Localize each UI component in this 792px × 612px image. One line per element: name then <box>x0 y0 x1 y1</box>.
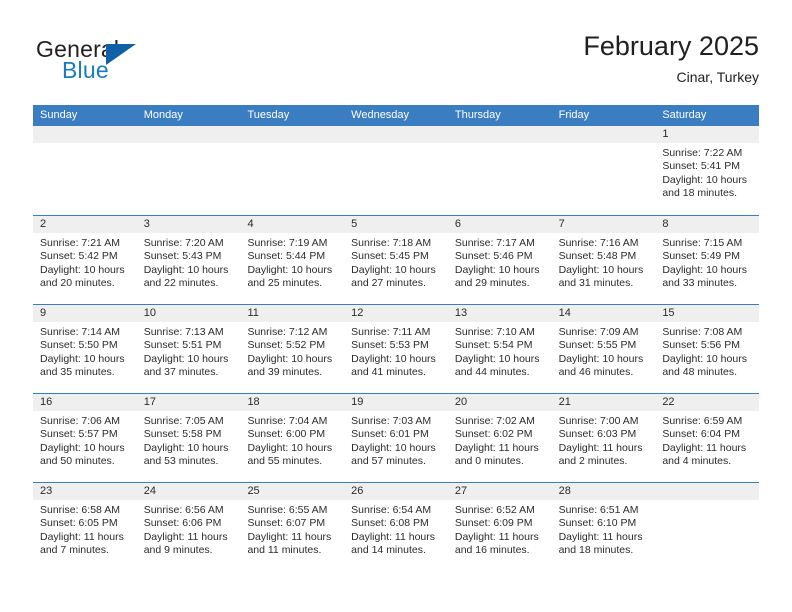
calendar-day-cell[interactable]: 7Sunrise: 7:16 AMSunset: 5:48 PMDaylight… <box>552 216 656 304</box>
day-details: Sunrise: 7:00 AMSunset: 6:03 PMDaylight:… <box>552 411 656 469</box>
day-number: 14 <box>552 305 656 322</box>
daylight-text-line1: Daylight: 10 hours <box>247 353 338 366</box>
calendar-day-cell[interactable]: 19Sunrise: 7:03 AMSunset: 6:01 PMDayligh… <box>344 394 448 482</box>
sunset-text: Sunset: 6:08 PM <box>351 517 442 530</box>
daylight-text-line2: and 20 minutes. <box>40 277 131 290</box>
day-details: Sunrise: 6:51 AMSunset: 6:10 PMDaylight:… <box>552 500 656 558</box>
day-details: Sunrise: 7:18 AMSunset: 5:45 PMDaylight:… <box>344 233 448 291</box>
daylight-text-line2: and 39 minutes. <box>247 366 338 379</box>
sunrise-text: Sunrise: 7:04 AM <box>247 415 338 428</box>
day-details: Sunrise: 7:11 AMSunset: 5:53 PMDaylight:… <box>344 322 448 380</box>
sunrise-text: Sunrise: 7:22 AM <box>662 147 753 160</box>
calendar-day-cell[interactable]: 10Sunrise: 7:13 AMSunset: 5:51 PMDayligh… <box>137 305 241 393</box>
calendar-week-row: 23Sunrise: 6:58 AMSunset: 6:05 PMDayligh… <box>33 482 759 571</box>
sunrise-text: Sunrise: 6:51 AM <box>559 504 650 517</box>
sunrise-text: Sunrise: 7:08 AM <box>662 326 753 339</box>
sunset-text: Sunset: 6:03 PM <box>559 428 650 441</box>
daylight-text-line2: and 33 minutes. <box>662 277 753 290</box>
day-number: 18 <box>240 394 344 411</box>
calendar-day-cell[interactable]: 14Sunrise: 7:09 AMSunset: 5:55 PMDayligh… <box>552 305 656 393</box>
calendar-day-cell[interactable]: 28Sunrise: 6:51 AMSunset: 6:10 PMDayligh… <box>552 483 656 571</box>
calendar-week-row: 1Sunrise: 7:22 AMSunset: 5:41 PMDaylight… <box>33 126 759 215</box>
sunrise-text: Sunrise: 6:58 AM <box>40 504 131 517</box>
daylight-text-line2: and 29 minutes. <box>455 277 546 290</box>
day-number: 6 <box>448 216 552 233</box>
calendar-day-cell-empty <box>655 483 759 571</box>
calendar-day-cell[interactable]: 23Sunrise: 6:58 AMSunset: 6:05 PMDayligh… <box>33 483 137 571</box>
calendar-day-cell[interactable]: 24Sunrise: 6:56 AMSunset: 6:06 PMDayligh… <box>137 483 241 571</box>
day-number: 23 <box>33 483 137 500</box>
sunset-text: Sunset: 5:52 PM <box>247 339 338 352</box>
daylight-text-line1: Daylight: 10 hours <box>455 264 546 277</box>
sunrise-text: Sunrise: 6:56 AM <box>144 504 235 517</box>
daylight-text-line1: Daylight: 11 hours <box>662 442 753 455</box>
sunset-text: Sunset: 5:42 PM <box>40 250 131 263</box>
daylight-text-line2: and 9 minutes. <box>144 544 235 557</box>
calendar-day-cell[interactable]: 15Sunrise: 7:08 AMSunset: 5:56 PMDayligh… <box>655 305 759 393</box>
sunrise-text: Sunrise: 7:17 AM <box>455 237 546 250</box>
daylight-text-line2: and 50 minutes. <box>40 455 131 468</box>
daylight-text-line2: and 18 minutes. <box>559 544 650 557</box>
sunrise-text: Sunrise: 7:19 AM <box>247 237 338 250</box>
day-number <box>33 126 137 143</box>
day-number: 28 <box>552 483 656 500</box>
daylight-text-line1: Daylight: 10 hours <box>40 353 131 366</box>
day-details: Sunrise: 7:15 AMSunset: 5:49 PMDaylight:… <box>655 233 759 291</box>
day-details: Sunrise: 7:19 AMSunset: 5:44 PMDaylight:… <box>240 233 344 291</box>
sunset-text: Sunset: 6:02 PM <box>455 428 546 441</box>
calendar-day-cell[interactable]: 1Sunrise: 7:22 AMSunset: 5:41 PMDaylight… <box>655 126 759 215</box>
sunset-text: Sunset: 5:49 PM <box>662 250 753 263</box>
daylight-text-line2: and 46 minutes. <box>559 366 650 379</box>
daylight-text-line1: Daylight: 10 hours <box>144 442 235 455</box>
day-details: Sunrise: 7:08 AMSunset: 5:56 PMDaylight:… <box>655 322 759 380</box>
sunset-text: Sunset: 5:44 PM <box>247 250 338 263</box>
calendar-day-cell[interactable]: 2Sunrise: 7:21 AMSunset: 5:42 PMDaylight… <box>33 216 137 304</box>
day-number: 13 <box>448 305 552 322</box>
day-number <box>655 483 759 500</box>
day-details: Sunrise: 7:21 AMSunset: 5:42 PMDaylight:… <box>33 233 137 291</box>
daylight-text-line1: Daylight: 10 hours <box>247 442 338 455</box>
daylight-text-line1: Daylight: 10 hours <box>351 353 442 366</box>
day-details: Sunrise: 7:22 AMSunset: 5:41 PMDaylight:… <box>655 143 759 201</box>
day-number: 8 <box>655 216 759 233</box>
daylight-text-line1: Daylight: 10 hours <box>351 264 442 277</box>
sunset-text: Sunset: 5:51 PM <box>144 339 235 352</box>
calendar-day-cell[interactable]: 3Sunrise: 7:20 AMSunset: 5:43 PMDaylight… <box>137 216 241 304</box>
sunrise-text: Sunrise: 6:59 AM <box>662 415 753 428</box>
day-number: 25 <box>240 483 344 500</box>
calendar-day-cell[interactable]: 26Sunrise: 6:54 AMSunset: 6:08 PMDayligh… <box>344 483 448 571</box>
daylight-text-line2: and 37 minutes. <box>144 366 235 379</box>
sunrise-text: Sunrise: 7:21 AM <box>40 237 131 250</box>
day-number <box>552 126 656 143</box>
day-number: 9 <box>33 305 137 322</box>
sunset-text: Sunset: 6:00 PM <box>247 428 338 441</box>
day-number: 26 <box>344 483 448 500</box>
calendar-day-cell[interactable]: 5Sunrise: 7:18 AMSunset: 5:45 PMDaylight… <box>344 216 448 304</box>
sunset-text: Sunset: 5:46 PM <box>455 250 546 263</box>
daylight-text-line2: and 16 minutes. <box>455 544 546 557</box>
sunrise-text: Sunrise: 7:05 AM <box>144 415 235 428</box>
calendar-day-cell[interactable]: 18Sunrise: 7:04 AMSunset: 6:00 PMDayligh… <box>240 394 344 482</box>
daylight-text-line2: and 35 minutes. <box>40 366 131 379</box>
day-details: Sunrise: 7:02 AMSunset: 6:02 PMDaylight:… <box>448 411 552 469</box>
calendar-day-cell-empty <box>33 126 137 215</box>
page-header: General Blue February 2025 Cinar, Turkey <box>33 30 759 98</box>
sunset-text: Sunset: 6:04 PM <box>662 428 753 441</box>
day-details: Sunrise: 6:56 AMSunset: 6:06 PMDaylight:… <box>137 500 241 558</box>
sunset-text: Sunset: 5:54 PM <box>455 339 546 352</box>
sunrise-text: Sunrise: 7:09 AM <box>559 326 650 339</box>
sunset-text: Sunset: 6:07 PM <box>247 517 338 530</box>
day-details: Sunrise: 7:09 AMSunset: 5:55 PMDaylight:… <box>552 322 656 380</box>
sunset-text: Sunset: 5:58 PM <box>144 428 235 441</box>
sunrise-text: Sunrise: 7:02 AM <box>455 415 546 428</box>
sunrise-text: Sunrise: 7:14 AM <box>40 326 131 339</box>
day-number: 21 <box>552 394 656 411</box>
day-details: Sunrise: 7:20 AMSunset: 5:43 PMDaylight:… <box>137 233 241 291</box>
day-number: 17 <box>137 394 241 411</box>
calendar-day-cell[interactable]: 27Sunrise: 6:52 AMSunset: 6:09 PMDayligh… <box>448 483 552 571</box>
daylight-text-line2: and 55 minutes. <box>247 455 338 468</box>
day-number <box>344 126 448 143</box>
sunset-text: Sunset: 5:55 PM <box>559 339 650 352</box>
day-details: Sunrise: 7:04 AMSunset: 6:00 PMDaylight:… <box>240 411 344 469</box>
daylight-text-line1: Daylight: 10 hours <box>144 264 235 277</box>
day-number: 15 <box>655 305 759 322</box>
day-number <box>137 126 241 143</box>
logo-triangle-icon <box>106 44 136 65</box>
daylight-text-line1: Daylight: 11 hours <box>455 531 546 544</box>
sunrise-text: Sunrise: 7:16 AM <box>559 237 650 250</box>
sunset-text: Sunset: 5:43 PM <box>144 250 235 263</box>
day-number: 1 <box>655 126 759 143</box>
day-number: 7 <box>552 216 656 233</box>
weekday-header-wednesday: Wednesday <box>344 105 448 126</box>
daylight-text-line1: Daylight: 10 hours <box>455 353 546 366</box>
daylight-text-line1: Daylight: 10 hours <box>559 353 650 366</box>
daylight-text-line1: Daylight: 10 hours <box>247 264 338 277</box>
calendar-week-row: 9Sunrise: 7:14 AMSunset: 5:50 PMDaylight… <box>33 304 759 393</box>
daylight-text-line1: Daylight: 11 hours <box>455 442 546 455</box>
daylight-text-line2: and 7 minutes. <box>40 544 131 557</box>
sunrise-text: Sunrise: 7:11 AM <box>351 326 442 339</box>
day-number: 27 <box>448 483 552 500</box>
calendar-day-cell[interactable]: 11Sunrise: 7:12 AMSunset: 5:52 PMDayligh… <box>240 305 344 393</box>
daylight-text-line2: and 14 minutes. <box>351 544 442 557</box>
daylight-text-line2: and 41 minutes. <box>351 366 442 379</box>
day-number: 19 <box>344 394 448 411</box>
sunset-text: Sunset: 6:05 PM <box>40 517 131 530</box>
day-details: Sunrise: 7:05 AMSunset: 5:58 PMDaylight:… <box>137 411 241 469</box>
day-details: Sunrise: 7:14 AMSunset: 5:50 PMDaylight:… <box>33 322 137 380</box>
daylight-text-line1: Daylight: 10 hours <box>662 264 753 277</box>
page-title: February 2025 <box>583 30 759 62</box>
daylight-text-line2: and 4 minutes. <box>662 455 753 468</box>
sunset-text: Sunset: 5:50 PM <box>40 339 131 352</box>
day-details: Sunrise: 6:59 AMSunset: 6:04 PMDaylight:… <box>655 411 759 469</box>
calendar-weeks: 1Sunrise: 7:22 AMSunset: 5:41 PMDaylight… <box>33 126 759 571</box>
sunrise-text: Sunrise: 7:12 AM <box>247 326 338 339</box>
weekday-header-row: SundayMondayTuesdayWednesdayThursdayFrid… <box>33 105 759 126</box>
sunrise-text: Sunrise: 7:03 AM <box>351 415 442 428</box>
day-details: Sunrise: 6:58 AMSunset: 6:05 PMDaylight:… <box>33 500 137 558</box>
day-details: Sunrise: 6:54 AMSunset: 6:08 PMDaylight:… <box>344 500 448 558</box>
daylight-text-line1: Daylight: 10 hours <box>662 353 753 366</box>
sunset-text: Sunset: 5:41 PM <box>662 160 753 173</box>
day-details: Sunrise: 7:16 AMSunset: 5:48 PMDaylight:… <box>552 233 656 291</box>
weekday-header-thursday: Thursday <box>448 105 552 126</box>
daylight-text-line2: and 44 minutes. <box>455 366 546 379</box>
sunset-text: Sunset: 6:01 PM <box>351 428 442 441</box>
day-number: 11 <box>240 305 344 322</box>
sunrise-text: Sunrise: 6:55 AM <box>247 504 338 517</box>
day-details: Sunrise: 7:12 AMSunset: 5:52 PMDaylight:… <box>240 322 344 380</box>
calendar-day-cell[interactable]: 21Sunrise: 7:00 AMSunset: 6:03 PMDayligh… <box>552 394 656 482</box>
calendar-day-cell[interactable]: 4Sunrise: 7:19 AMSunset: 5:44 PMDaylight… <box>240 216 344 304</box>
day-details: Sunrise: 7:13 AMSunset: 5:51 PMDaylight:… <box>137 322 241 380</box>
sunset-text: Sunset: 5:48 PM <box>559 250 650 263</box>
location-subtitle: Cinar, Turkey <box>583 68 759 86</box>
sunset-text: Sunset: 6:10 PM <box>559 517 650 530</box>
calendar-day-cell[interactable]: 20Sunrise: 7:02 AMSunset: 6:02 PMDayligh… <box>448 394 552 482</box>
daylight-text-line1: Daylight: 11 hours <box>559 442 650 455</box>
sunrise-text: Sunrise: 7:20 AM <box>144 237 235 250</box>
weekday-header-friday: Friday <box>552 105 656 126</box>
calendar-day-cell[interactable]: 17Sunrise: 7:05 AMSunset: 5:58 PMDayligh… <box>137 394 241 482</box>
day-number: 12 <box>344 305 448 322</box>
daylight-text-line2: and 31 minutes. <box>559 277 650 290</box>
daylight-text-line1: Daylight: 11 hours <box>144 531 235 544</box>
sunrise-text: Sunrise: 6:54 AM <box>351 504 442 517</box>
calendar-day-cell-empty <box>448 126 552 215</box>
sunrise-text: Sunrise: 6:52 AM <box>455 504 546 517</box>
day-number: 2 <box>33 216 137 233</box>
daylight-text-line1: Daylight: 10 hours <box>351 442 442 455</box>
day-number: 5 <box>344 216 448 233</box>
daylight-text-line2: and 53 minutes. <box>144 455 235 468</box>
daylight-text-line2: and 18 minutes. <box>662 187 753 200</box>
day-details: Sunrise: 6:55 AMSunset: 6:07 PMDaylight:… <box>240 500 344 558</box>
daylight-text-line2: and 22 minutes. <box>144 277 235 290</box>
daylight-text-line1: Daylight: 11 hours <box>351 531 442 544</box>
calendar-day-cell[interactable]: 25Sunrise: 6:55 AMSunset: 6:07 PMDayligh… <box>240 483 344 571</box>
sunrise-text: Sunrise: 7:00 AM <box>559 415 650 428</box>
sunrise-text: Sunrise: 7:13 AM <box>144 326 235 339</box>
calendar-week-row: 16Sunrise: 7:06 AMSunset: 5:57 PMDayligh… <box>33 393 759 482</box>
sunset-text: Sunset: 5:45 PM <box>351 250 442 263</box>
daylight-text-line1: Daylight: 11 hours <box>247 531 338 544</box>
sunrise-text: Sunrise: 7:06 AM <box>40 415 131 428</box>
sunrise-text: Sunrise: 7:10 AM <box>455 326 546 339</box>
weekday-header-monday: Monday <box>137 105 241 126</box>
calendar-grid: SundayMondayTuesdayWednesdayThursdayFrid… <box>33 105 759 571</box>
calendar-day-cell[interactable]: 9Sunrise: 7:14 AMSunset: 5:50 PMDaylight… <box>33 305 137 393</box>
day-number: 16 <box>33 394 137 411</box>
logo-text-blue: Blue <box>62 57 109 84</box>
calendar-day-cell[interactable]: 8Sunrise: 7:15 AMSunset: 5:49 PMDaylight… <box>655 216 759 304</box>
day-number: 4 <box>240 216 344 233</box>
day-details: Sunrise: 7:06 AMSunset: 5:57 PMDaylight:… <box>33 411 137 469</box>
calendar-day-cell[interactable]: 13Sunrise: 7:10 AMSunset: 5:54 PMDayligh… <box>448 305 552 393</box>
title-block: February 2025 Cinar, Turkey <box>583 30 759 86</box>
calendar-page: General Blue February 2025 Cinar, Turkey… <box>0 0 792 612</box>
day-number: 24 <box>137 483 241 500</box>
daylight-text-line2: and 48 minutes. <box>662 366 753 379</box>
daylight-text-line1: Daylight: 10 hours <box>144 353 235 366</box>
daylight-text-line1: Daylight: 10 hours <box>662 174 753 187</box>
day-number: 22 <box>655 394 759 411</box>
calendar-day-cell[interactable]: 22Sunrise: 6:59 AMSunset: 6:04 PMDayligh… <box>655 394 759 482</box>
sunrise-text: Sunrise: 7:15 AM <box>662 237 753 250</box>
day-details: Sunrise: 6:52 AMSunset: 6:09 PMDaylight:… <box>448 500 552 558</box>
calendar-day-cell[interactable]: 16Sunrise: 7:06 AMSunset: 5:57 PMDayligh… <box>33 394 137 482</box>
calendar-week-row: 2Sunrise: 7:21 AMSunset: 5:42 PMDaylight… <box>33 215 759 304</box>
daylight-text-line2: and 57 minutes. <box>351 455 442 468</box>
daylight-text-line1: Daylight: 11 hours <box>40 531 131 544</box>
general-blue-logo[interactable]: General Blue <box>33 36 263 92</box>
calendar-day-cell[interactable]: 6Sunrise: 7:17 AMSunset: 5:46 PMDaylight… <box>448 216 552 304</box>
day-details: Sunrise: 7:10 AMSunset: 5:54 PMDaylight:… <box>448 322 552 380</box>
daylight-text-line1: Daylight: 11 hours <box>559 531 650 544</box>
sunset-text: Sunset: 5:53 PM <box>351 339 442 352</box>
calendar-day-cell-empty <box>552 126 656 215</box>
sunrise-text: Sunrise: 7:18 AM <box>351 237 442 250</box>
daylight-text-line1: Daylight: 10 hours <box>40 264 131 277</box>
sunset-text: Sunset: 6:06 PM <box>144 517 235 530</box>
calendar-day-cell-empty <box>137 126 241 215</box>
day-details: Sunrise: 7:03 AMSunset: 6:01 PMDaylight:… <box>344 411 448 469</box>
calendar-day-cell-empty <box>240 126 344 215</box>
daylight-text-line1: Daylight: 10 hours <box>40 442 131 455</box>
day-details: Sunrise: 7:17 AMSunset: 5:46 PMDaylight:… <box>448 233 552 291</box>
day-number: 10 <box>137 305 241 322</box>
day-number <box>240 126 344 143</box>
daylight-text-line2: and 0 minutes. <box>455 455 546 468</box>
daylight-text-line2: and 11 minutes. <box>247 544 338 557</box>
daylight-text-line2: and 25 minutes. <box>247 277 338 290</box>
weekday-header-saturday: Saturday <box>655 105 759 126</box>
sunset-text: Sunset: 5:57 PM <box>40 428 131 441</box>
sunset-text: Sunset: 6:09 PM <box>455 517 546 530</box>
day-number <box>448 126 552 143</box>
calendar-day-cell[interactable]: 12Sunrise: 7:11 AMSunset: 5:53 PMDayligh… <box>344 305 448 393</box>
weekday-header-sunday: Sunday <box>33 105 137 126</box>
sunset-text: Sunset: 5:56 PM <box>662 339 753 352</box>
daylight-text-line2: and 27 minutes. <box>351 277 442 290</box>
day-number: 3 <box>137 216 241 233</box>
daylight-text-line1: Daylight: 10 hours <box>559 264 650 277</box>
calendar-day-cell-empty <box>344 126 448 215</box>
weekday-header-tuesday: Tuesday <box>240 105 344 126</box>
day-number: 20 <box>448 394 552 411</box>
daylight-text-line2: and 2 minutes. <box>559 455 650 468</box>
